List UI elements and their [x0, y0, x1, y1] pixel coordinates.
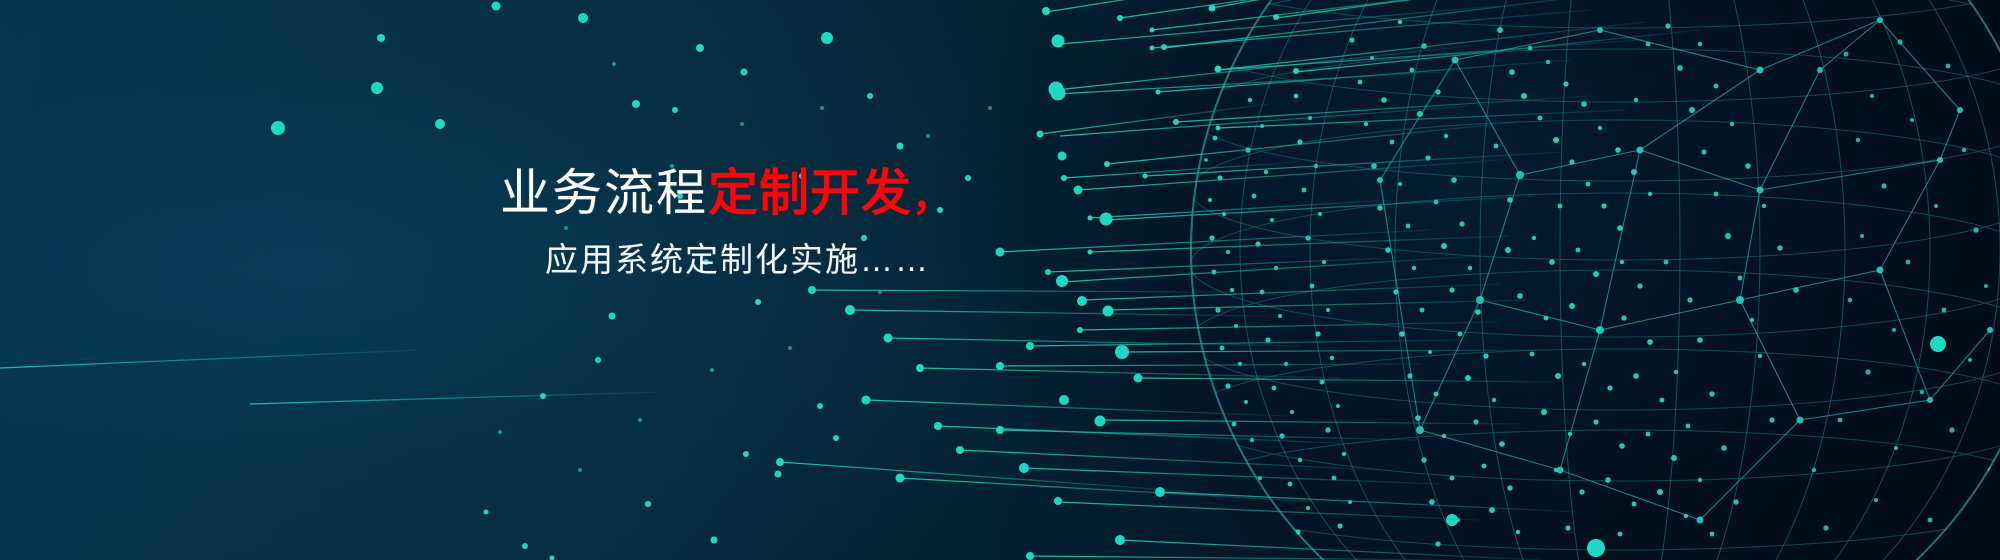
hero-banner: 业务流程定制开发， 应用系统定制化实施……: [0, 0, 2000, 560]
network-globe-graphic: [0, 0, 2000, 560]
